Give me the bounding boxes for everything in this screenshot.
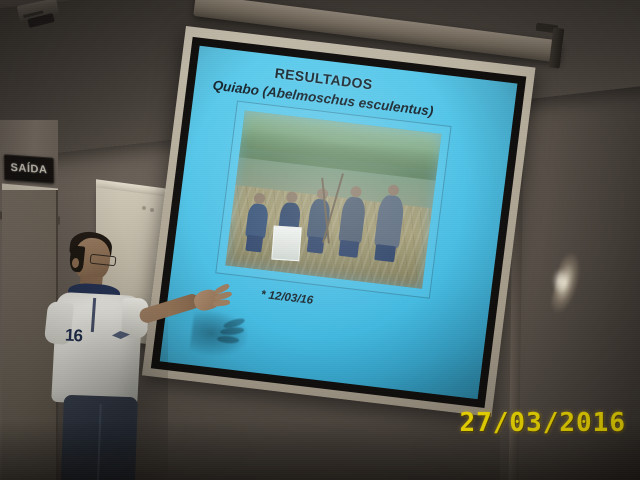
exit-sign-label: SAÍDA bbox=[11, 162, 48, 177]
presenter-shirt-logo bbox=[111, 327, 132, 340]
projection-screen: RESULTADOS Quiabo (Abelmoschus esculentu… bbox=[142, 26, 536, 417]
wall-light-glare-core bbox=[552, 268, 568, 294]
slide-field-photo bbox=[225, 111, 441, 289]
presenter-shirt-number: 16 bbox=[64, 326, 82, 347]
whiteboard-mark bbox=[142, 206, 146, 210]
photo-projection-blur bbox=[225, 111, 441, 289]
screen-projection-surface: RESULTADOS Quiabo (Abelmoschus esculentu… bbox=[160, 46, 518, 399]
slide-content-placeholder bbox=[215, 101, 451, 299]
hand-shadow-on-screen bbox=[189, 309, 250, 359]
exit-sign: SAÍDA bbox=[4, 154, 54, 184]
slide-caption: * 12/03/16 bbox=[260, 289, 314, 307]
whiteboard-mark bbox=[150, 208, 154, 212]
camera-date-stamp: 27/03/2016 bbox=[459, 408, 626, 438]
photograph-scene: SAÍDA RESULTADOS Quiabo (Abelmoschus esc… bbox=[0, 0, 640, 480]
